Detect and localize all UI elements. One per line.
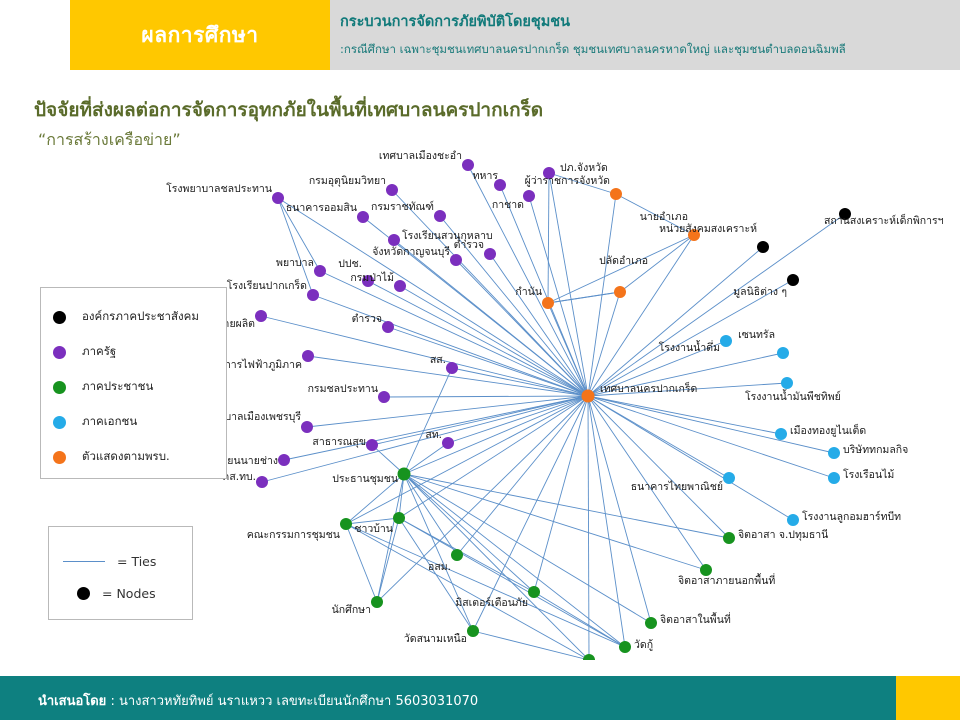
network-edge — [588, 214, 845, 396]
legend-color-dot-icon — [53, 451, 66, 464]
network-node[interactable] — [828, 472, 840, 484]
network-node-label: หน่วยสังคมสงเคราะห์ — [0, 224, 757, 235]
network-edge — [588, 396, 651, 623]
network-node-label: จิตอาสา จ.ปทุมธานี — [738, 530, 828, 541]
node-dot-icon — [77, 587, 90, 600]
legend-item-1: ภาครัฐ — [53, 343, 116, 361]
network-edge — [588, 396, 625, 647]
legend-item-2: ภาคประชาชน — [53, 378, 153, 396]
slide-header: ผลการศึกษา กระบวนการจัดการภัยพิบัติโดยชุ… — [0, 0, 960, 72]
network-node[interactable] — [446, 362, 458, 374]
network-node[interactable] — [723, 532, 735, 544]
tie-line-icon — [63, 561, 105, 562]
network-node-label: เทศบาลนครปากเกร็ด — [600, 384, 697, 395]
network-node[interactable] — [787, 274, 799, 286]
key-row-nodes: = Nodes — [63, 585, 156, 601]
network-node[interactable] — [583, 654, 595, 660]
network-node-label: ปภ.จังหวัด — [560, 163, 608, 174]
network-node[interactable] — [378, 391, 390, 403]
legend-color-dot-icon — [53, 346, 66, 359]
network-node[interactable] — [610, 188, 622, 200]
network-edge — [284, 396, 588, 460]
network-edge — [307, 396, 588, 427]
legend-item-4: ตัวแสดงตามพรบ. — [53, 448, 170, 466]
network-node[interactable] — [723, 472, 735, 484]
network-node[interactable] — [775, 428, 787, 440]
network-node[interactable] — [781, 377, 793, 389]
key-nodes-label: = Nodes — [102, 586, 156, 601]
network-edge — [548, 173, 549, 303]
network-node-label: ธนาคารไทยพาณิชย์ — [0, 482, 723, 493]
network-edge — [399, 518, 625, 647]
network-node[interactable] — [619, 641, 631, 653]
network-node[interactable] — [582, 390, 595, 403]
network-node[interactable] — [398, 468, 411, 481]
network-node[interactable] — [451, 549, 463, 561]
footer-text: นำเสนอโดย : นางสาวหทัยทิพย์ นราแหวว เลขท… — [38, 690, 478, 711]
key-legend: = Ties = Nodes — [48, 526, 193, 620]
network-node-label: โรงงานน้ำมันพืชทิพย์ — [745, 392, 841, 403]
legend-item-label: ภาครัฐ — [82, 343, 116, 361]
network-node-label: ผู้ว่าราชการจังหวัด — [0, 176, 610, 187]
header-title: กระบวนการจัดการภัยพิบัติโดยชุมชน — [340, 10, 570, 33]
network-edge — [588, 396, 589, 660]
network-node[interactable] — [542, 297, 554, 309]
header-banner-label: ผลการศึกษา — [70, 0, 330, 70]
network-node[interactable] — [467, 625, 479, 637]
network-node[interactable] — [645, 617, 657, 629]
network-node[interactable] — [528, 586, 540, 598]
network-edge — [346, 524, 625, 647]
network-node-label: บริษัททกมลกิจ — [843, 445, 908, 456]
network-edge — [404, 368, 452, 474]
key-ties-label: = Ties — [117, 554, 156, 569]
network-edge — [588, 396, 729, 538]
network-node-label: จิตอาสาภายนอกพื้นที่ — [678, 576, 775, 587]
legend-item-3: ภาคเอกชน — [53, 413, 137, 431]
network-edge — [588, 247, 763, 396]
header-banner: ผลการศึกษา — [70, 0, 330, 70]
network-node[interactable] — [442, 437, 454, 449]
network-node-label: นายอำเภอ — [0, 212, 688, 223]
network-node-label: กาชาด — [0, 200, 524, 211]
footer-prefix: นำเสนอโดย — [38, 694, 106, 709]
legend-color-dot-icon — [53, 311, 66, 324]
network-edge — [346, 396, 588, 524]
legend-item-label: ตัวแสดงตามพรบ. — [82, 448, 170, 466]
network-edge — [588, 396, 834, 478]
legend-item-label: ภาคเอกชน — [82, 413, 137, 431]
legend-color-dot-icon — [53, 416, 66, 429]
network-node[interactable] — [757, 241, 769, 253]
network-edge — [448, 396, 588, 443]
legend-item-0: องค์กรภาคประชาสังคม — [53, 308, 199, 326]
network-node-label: เทศบาลเมืองชะอำ — [0, 151, 462, 162]
network-node[interactable] — [278, 454, 290, 466]
key-row-ties: = Ties — [63, 553, 156, 569]
page-title: ปัจจัยที่ส่งผลต่อการจัดการอุทกภัยในพื้นท… — [34, 95, 543, 125]
footer-body: : นางสาวหทัยทิพย์ นราแหวว เลขทะเบียนนักศ… — [106, 694, 478, 709]
network-node[interactable] — [777, 347, 789, 359]
legend-item-label: ภาคประชาชน — [82, 378, 153, 396]
network-edge — [534, 592, 625, 647]
legend-color-dot-icon — [53, 381, 66, 394]
legend-item-label: องค์กรภาคประชาสังคม — [82, 308, 199, 326]
network-node-label: วัดสนามเหนือ — [0, 634, 467, 645]
category-legend: องค์กรภาคประชาสังคมภาครัฐภาคประชาชนภาคเอ… — [40, 287, 227, 479]
network-node[interactable] — [828, 447, 840, 459]
network-node-label: เมืองทองยูไนเต็ด — [790, 426, 866, 437]
network-edge — [384, 396, 588, 397]
network-edge — [473, 631, 589, 660]
network-node-label: โรงงานลูกอมฮาร์ทบีท — [802, 512, 901, 523]
network-edge — [490, 254, 588, 396]
network-node-label: โรงเรือนไม้ — [843, 470, 894, 481]
network-node-label: ตำรวจ — [0, 240, 484, 251]
header-subtitle: :กรณีศึกษา เฉพาะชุมชนเทศบาลนครปากเกร็ด ช… — [340, 41, 846, 59]
network-node[interactable] — [393, 512, 405, 524]
network-node-label: ปลัดอำเภอ — [0, 256, 648, 267]
network-node-label: วัดกู้ — [634, 640, 653, 651]
network-edge — [588, 396, 793, 520]
network-edge — [399, 518, 534, 592]
network-node[interactable] — [523, 190, 535, 202]
network-node[interactable] — [787, 514, 799, 526]
network-node-label: สถานสงเคราะห์เด็กพิการฯ — [824, 216, 944, 227]
network-node-label: จิตอาสาในพื้นที่ — [660, 615, 731, 626]
footer-accent — [896, 676, 960, 720]
